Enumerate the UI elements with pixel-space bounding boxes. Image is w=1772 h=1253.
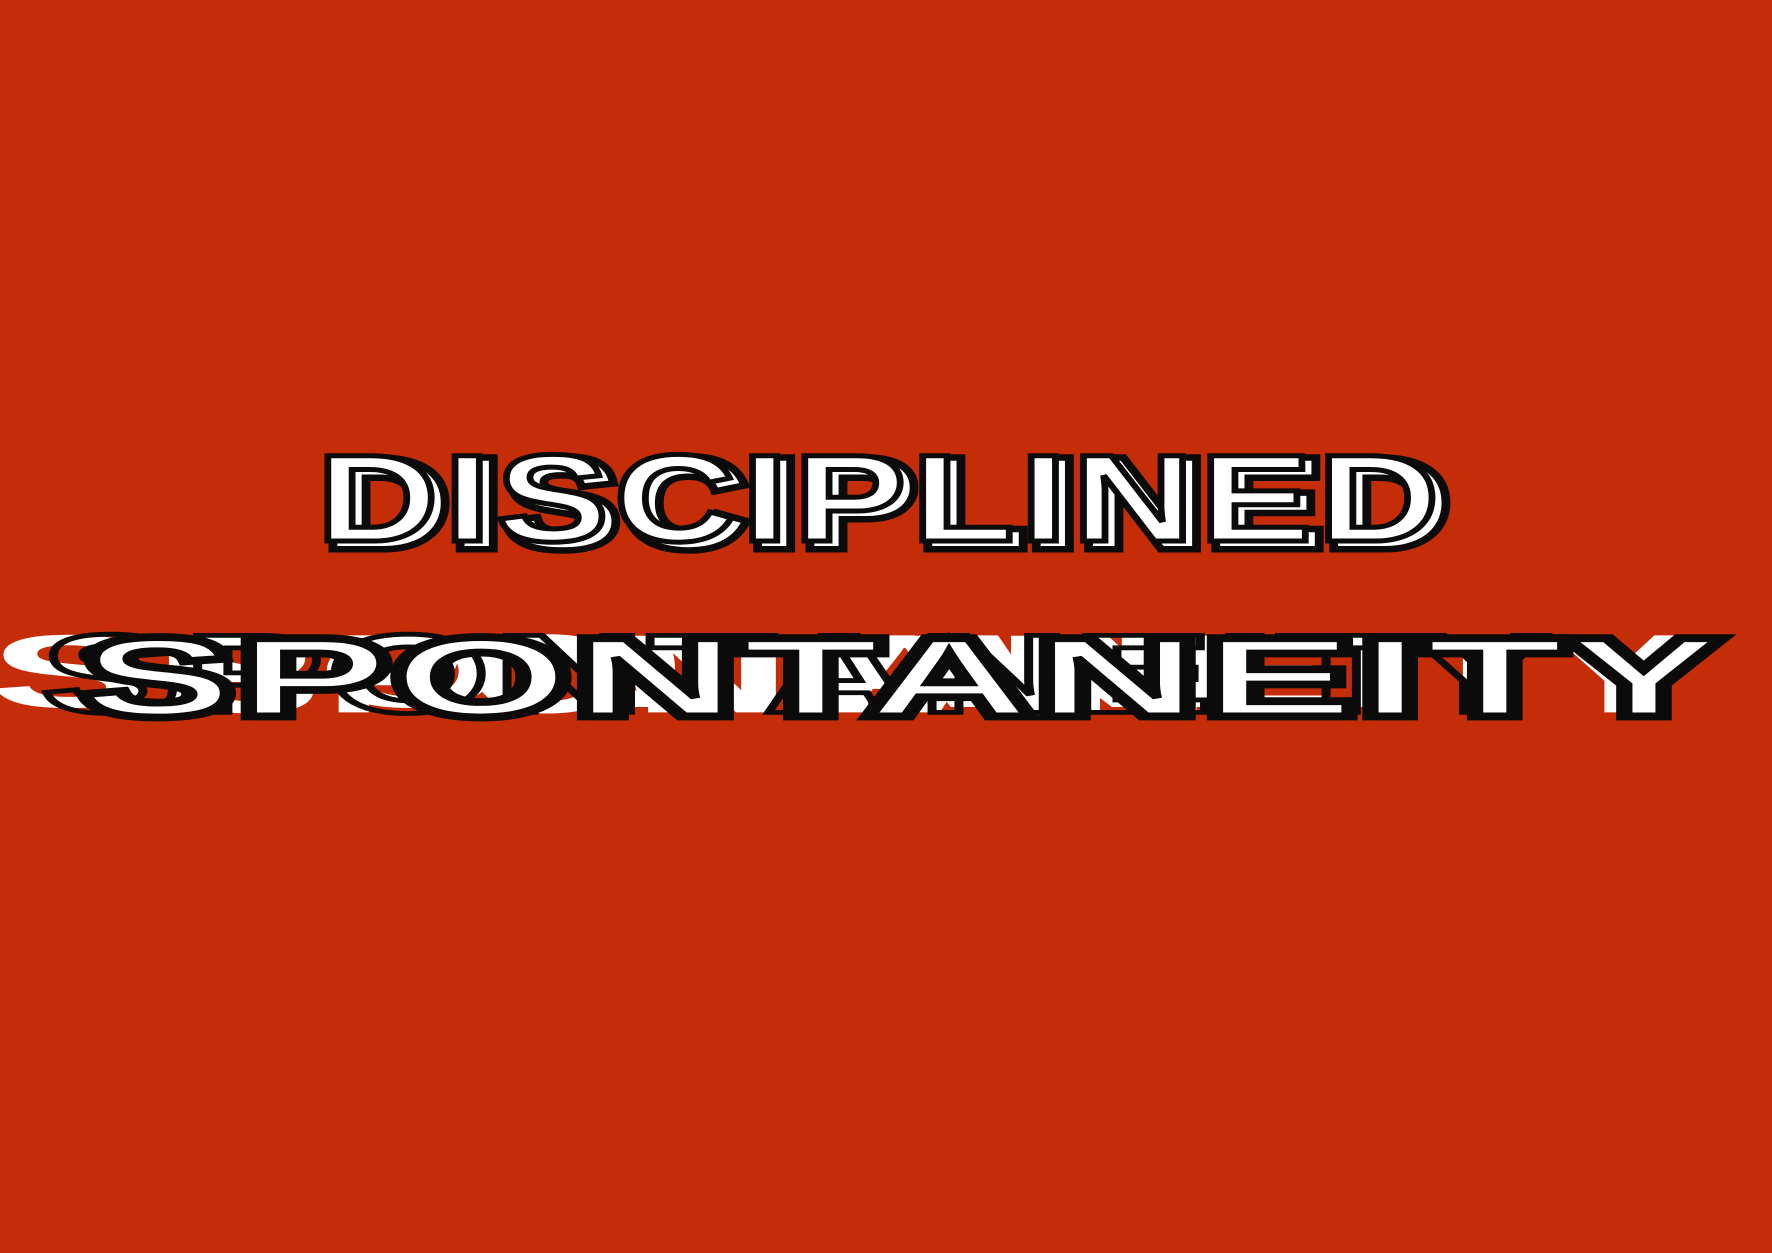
headline-disciplined-stroke-layer: DISCIPLINED (0, 437, 1772, 561)
poster-canvas: DISCIPLINED DISCIPLINED DISCIPLINED SPON… (0, 0, 1772, 1253)
headline-spontaneity-stroke-layer: SPONTANEITY (0, 623, 1772, 732)
